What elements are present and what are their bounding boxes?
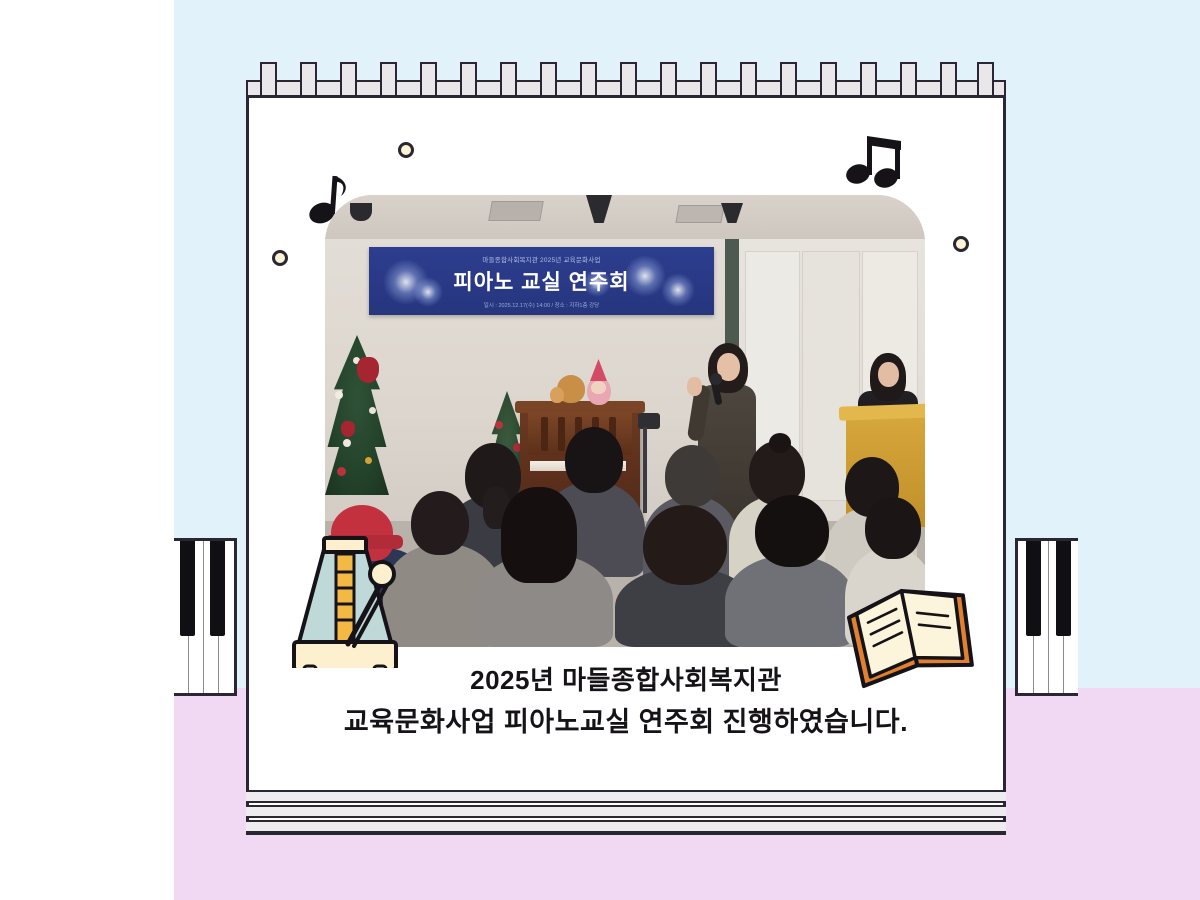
dot-decoration-right (953, 236, 969, 252)
beamed-eighth-notes-icon (845, 128, 907, 190)
caption-block: 2025년 마들종합사회복지관 교육문화사업 피아노교실 연주회 진행하였습니다… (266, 662, 986, 741)
dot-decoration-left (272, 250, 288, 266)
spiral-binding (246, 62, 1006, 98)
banner-top-line: 마들종합사회복지관 2025년 교육문화사업 (369, 254, 714, 264)
card-base-lines (246, 790, 1006, 835)
dot-decoration-top-left (398, 142, 414, 158)
metronome-icon (286, 528, 404, 668)
caption-line-2: 교육문화사업 피아노교실 연주회 진행하였습니다. (266, 703, 986, 741)
event-photo: 마들종합사회복지관 2025년 교육문화사업 피아노 교실 연주회 일시 : 2… (325, 195, 925, 647)
banner-bottom-line: 일시 : 2025.12.17(수) 14:00 / 장소 : 지하1층 강당 (369, 301, 714, 309)
piano-keys-left (174, 538, 237, 696)
caption-line-1: 2025년 마들종합사회복지관 (266, 662, 986, 699)
background-left-margin (0, 0, 174, 900)
audience-head (565, 427, 623, 493)
piano-keys-right (1015, 538, 1078, 696)
photo-banner: 마들종합사회복지관 2025년 교육문화사업 피아노 교실 연주회 일시 : 2… (369, 247, 714, 315)
banner-title: 피아노 교실 연주회 (369, 266, 714, 296)
poster-canvas: 마들종합사회복지관 2025년 교육문화사업 피아노 교실 연주회 일시 : 2… (0, 0, 1200, 900)
